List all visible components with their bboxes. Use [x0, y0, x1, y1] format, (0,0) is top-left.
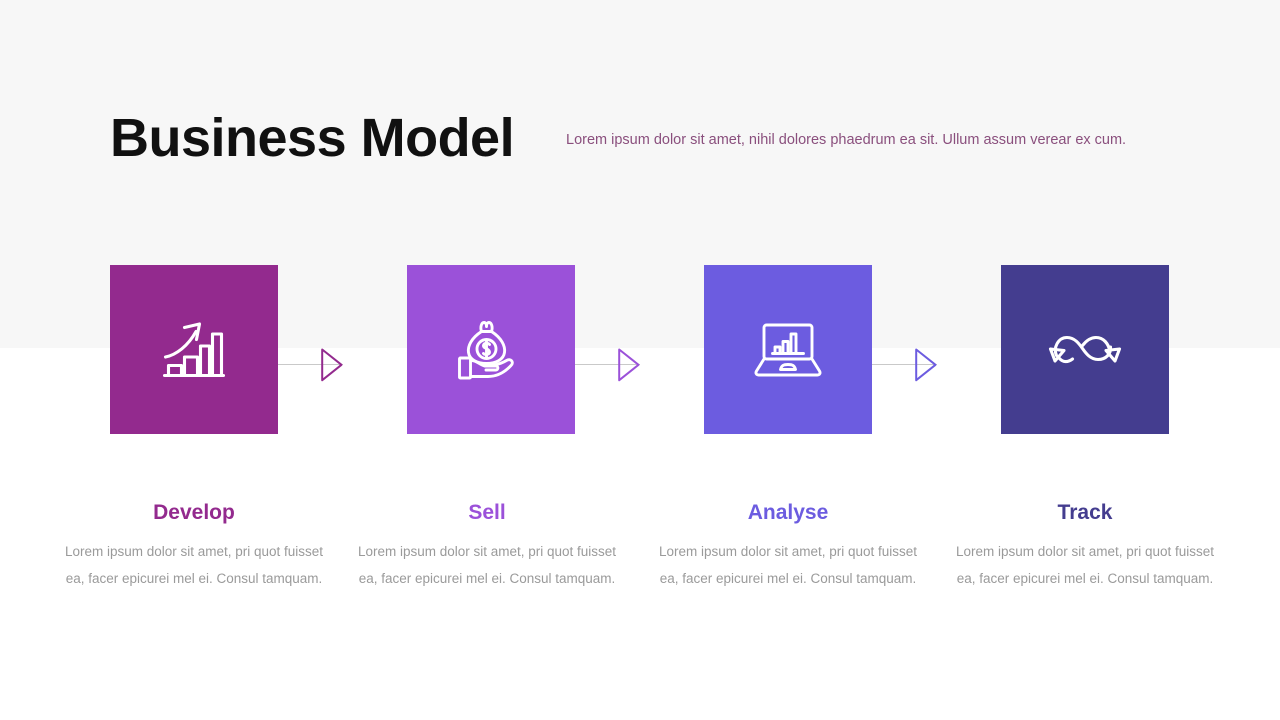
connector-develop-to-sell	[278, 348, 343, 382]
step-icon-tile-track[interactable]	[1001, 265, 1169, 434]
caption-body-sell: Lorem ipsum dolor sit amet, pri quot fui…	[347, 539, 627, 592]
caption-develop: Develop Lorem ipsum dolor sit amet, pri …	[54, 497, 334, 592]
step-icon-tile-sell[interactable]	[407, 265, 575, 434]
step-analyse[interactable]	[704, 265, 872, 434]
laptop-bar-chart-icon	[754, 323, 822, 377]
connector-analyse-to-track	[872, 348, 937, 382]
caption-analyse: Analyse Lorem ipsum dolor sit amet, pri …	[648, 497, 928, 592]
caption-body-analyse: Lorem ipsum dolor sit amet, pri quot fui…	[648, 539, 928, 592]
slide-canvas: Business Model Lorem ipsum dolor sit ame…	[0, 0, 1280, 720]
arrow-triangle-icon	[321, 348, 343, 382]
arrow-triangle-icon	[618, 348, 640, 382]
caption-title-develop: Develop	[54, 497, 334, 529]
infinity-loop-arrows-icon	[1047, 333, 1123, 367]
caption-title-sell: Sell	[347, 497, 627, 529]
arrow-triangle-icon	[915, 348, 937, 382]
caption-title-analyse: Analyse	[648, 497, 928, 529]
step-icon-tile-develop[interactable]	[110, 265, 278, 434]
step-track[interactable]	[1001, 265, 1169, 434]
step-icon-tile-analyse[interactable]	[704, 265, 872, 434]
caption-track: Track Lorem ipsum dolor sit amet, pri qu…	[945, 497, 1225, 592]
process-steps: Develop Lorem ipsum dolor sit amet, pri …	[0, 0, 1280, 720]
caption-body-develop: Lorem ipsum dolor sit amet, pri quot fui…	[54, 539, 334, 592]
growth-chart-arrow-icon	[163, 321, 225, 379]
caption-title-track: Track	[945, 497, 1225, 529]
caption-body-track: Lorem ipsum dolor sit amet, pri quot fui…	[945, 539, 1225, 592]
caption-sell: Sell Lorem ipsum dolor sit amet, pri quo…	[347, 497, 627, 592]
step-sell[interactable]	[407, 265, 575, 434]
step-develop[interactable]	[110, 265, 278, 434]
money-bag-in-hand-icon	[458, 319, 524, 381]
connector-sell-to-analyse	[575, 348, 640, 382]
